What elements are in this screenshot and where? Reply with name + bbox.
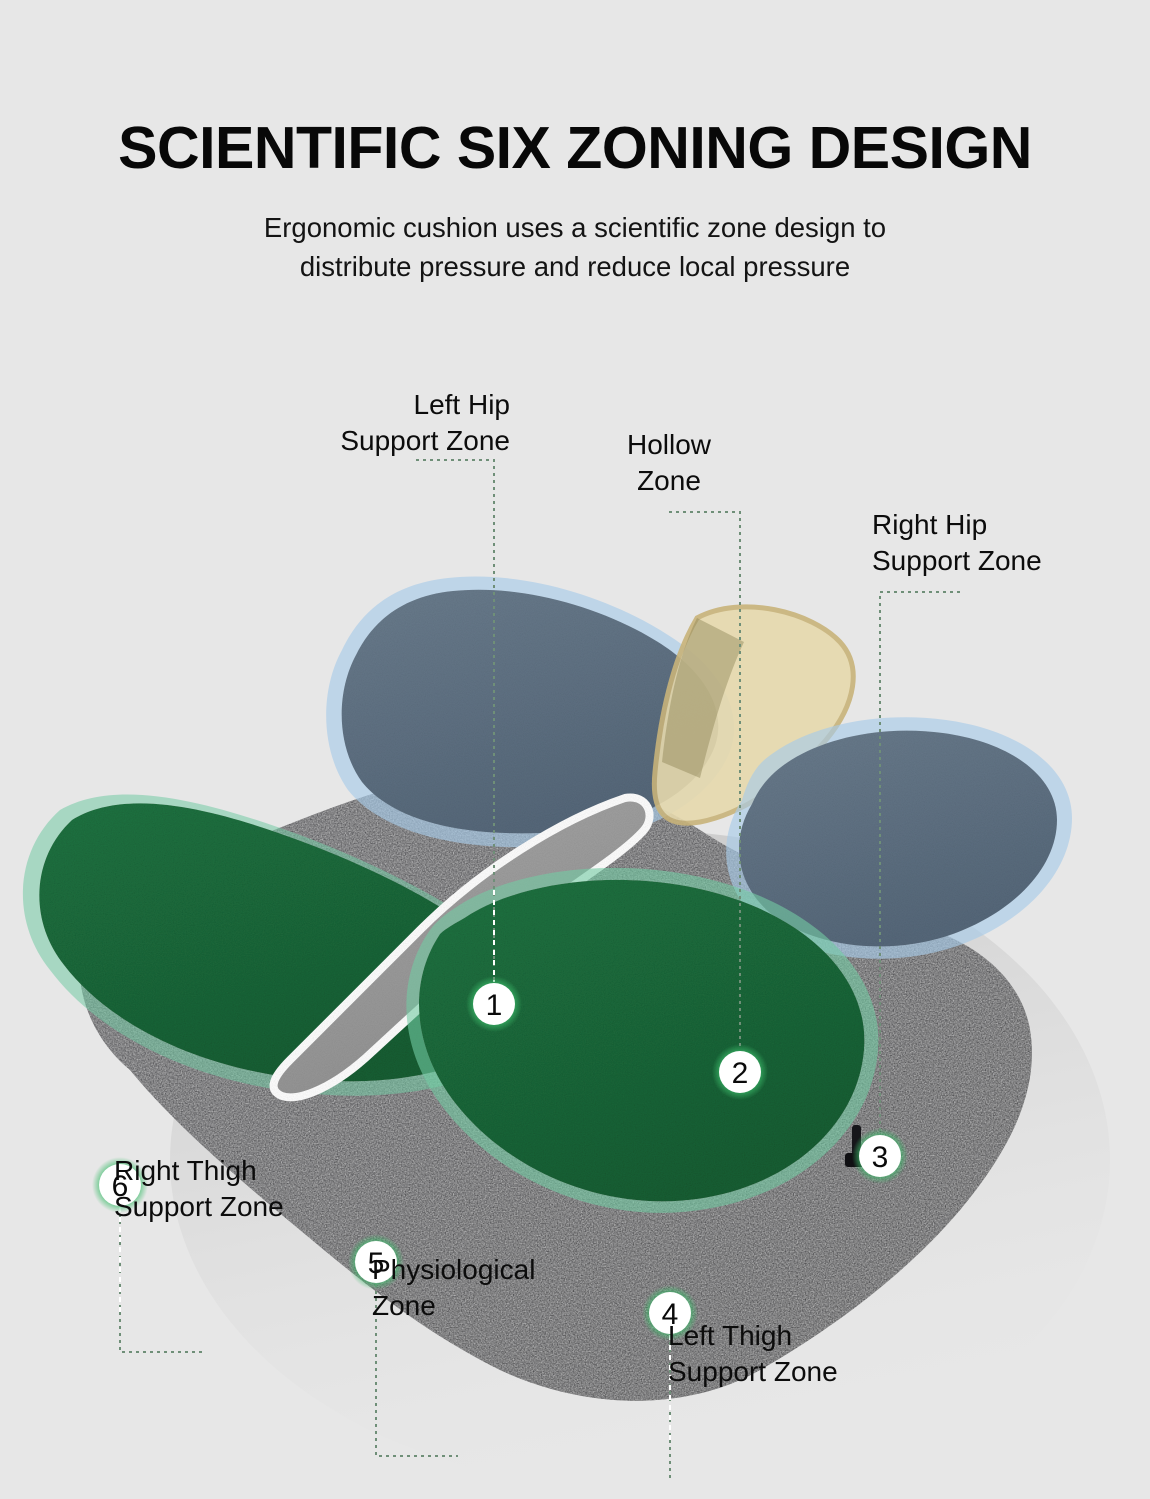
- zone-badge-2[interactable]: 2: [712, 1044, 768, 1100]
- header: SCIENTIFIC SIX ZONING DESIGN Ergonomic c…: [0, 0, 1150, 286]
- zone-badge-3[interactable]: 3: [852, 1128, 908, 1184]
- zone-label-physiological: Physiological Zone: [372, 1252, 622, 1324]
- zone-label-right-hip: Right Hip Support Zone: [872, 507, 1104, 579]
- zone-badge-1-number: 1: [486, 989, 503, 1022]
- zone-label-right-thigh: Right Thigh Support Zone: [114, 1153, 374, 1225]
- zone-label-left-thigh: Left Thigh Support Zone: [668, 1318, 928, 1390]
- page-title: SCIENTIFIC SIX ZONING DESIGN: [0, 0, 1150, 180]
- zone-label-left-hip: Left Hip Support Zone: [262, 387, 510, 459]
- zone-badge-1[interactable]: 1: [466, 976, 522, 1032]
- zone-label-hollow: Hollow Zone: [586, 427, 752, 499]
- zone-badge-2-number: 2: [732, 1057, 749, 1090]
- page-subtitle: Ergonomic cushion uses a scientific zone…: [165, 180, 985, 286]
- zone-badge-3-number: 3: [872, 1141, 889, 1174]
